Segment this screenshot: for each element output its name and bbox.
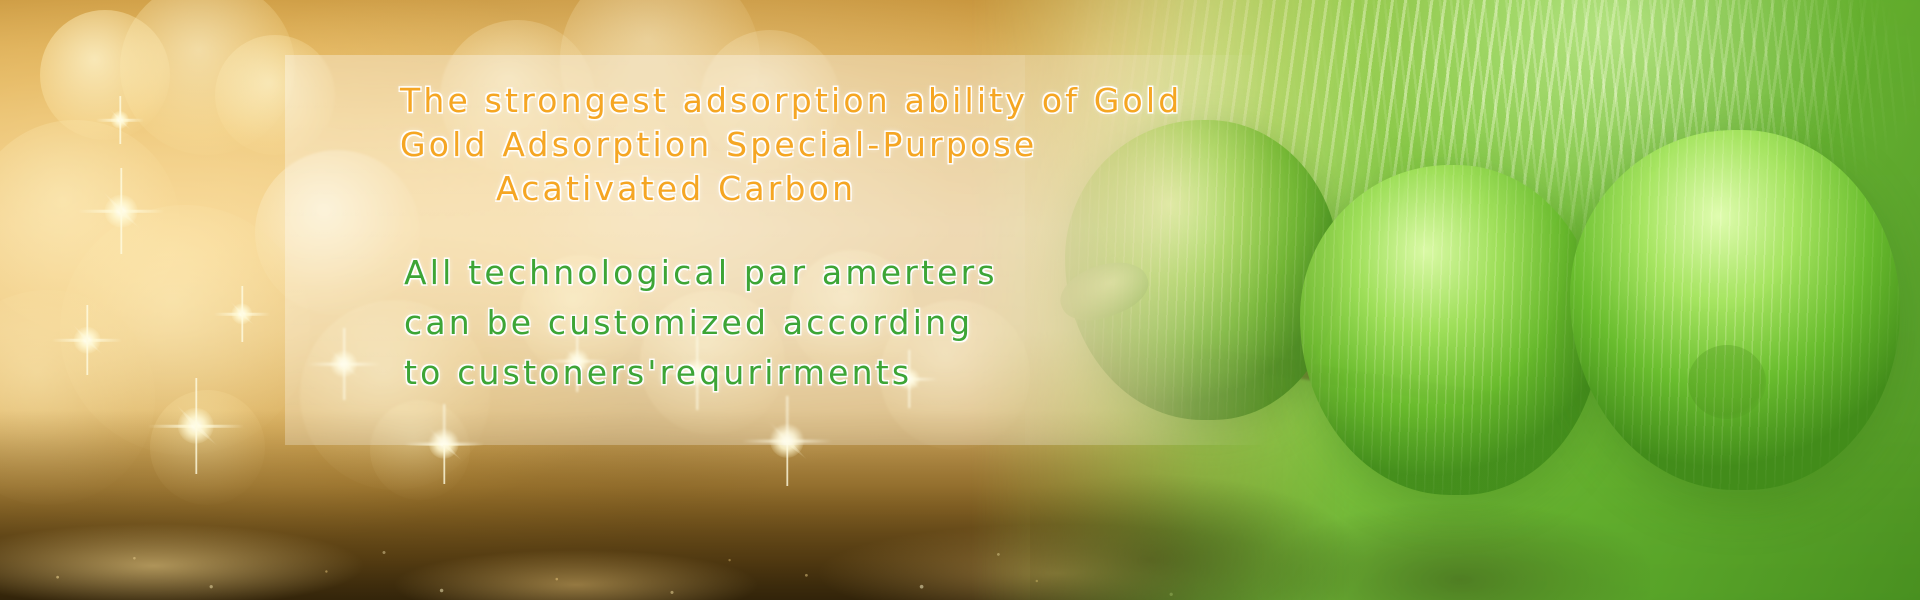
subhead-line-3: to custoners'requrirments [404,356,912,389]
subhead-line-2: can be customized according [404,306,973,339]
banner-copy: The strongest adsorption ability of Gold… [0,0,1920,600]
promo-banner: The strongest adsorption ability of Gold… [0,0,1920,600]
headline-line-3: Acativated Carbon [496,172,856,205]
headline-line-1: The strongest adsorption ability of Gold [400,84,1182,117]
subhead-line-1: All technological par amerters [404,256,998,289]
headline-line-2: Gold Adsorption Special-Purpose [400,128,1037,161]
